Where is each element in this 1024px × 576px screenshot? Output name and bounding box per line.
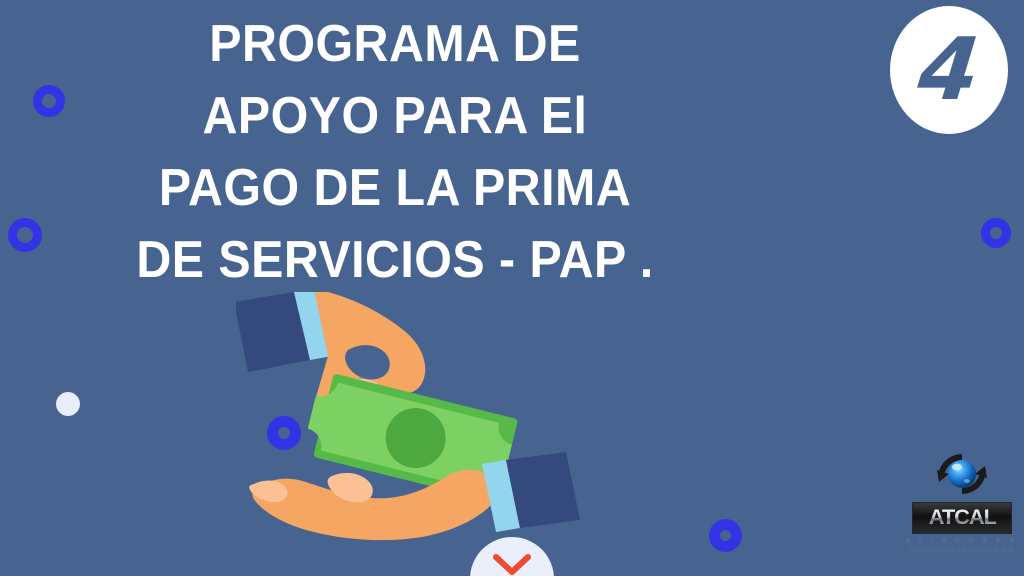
slide-canvas: PROGRAMA DE APOYO PARA El PAGO DE LA PRI… [0, 0, 1024, 576]
ring-bottom-right [709, 519, 742, 552]
atcal-wordmark-text: ATCAL [928, 506, 995, 530]
title-line-2: APOYO PARA El [28, 80, 763, 152]
lower-hand-palm [252, 470, 496, 540]
atcal-tagline-line2: TECNOLOGIA Y CALIDAD S.A.S. [909, 547, 1015, 554]
slide-number-badge: 4 [890, 6, 1008, 134]
atcal-tagline-line1: A L I A D O S E N [906, 538, 1018, 545]
title-line-1: PROGRAMA DE [28, 8, 763, 80]
title-line-3: PAGO DE LA PRIMA [28, 152, 763, 224]
atcal-cycle-sphere-icon [931, 448, 993, 500]
atcal-logo: ATCAL A L I A D O S E N TECNOLOGIA Y CAL… [906, 448, 1018, 572]
slide-number-value: 4 [915, 27, 984, 113]
title-line-4: DE SERVICIOS - PAP . [28, 224, 763, 296]
ring-mid-right [981, 218, 1011, 248]
hands-exchanging-money-illustration [236, 292, 596, 576]
page-title: PROGRAMA DE APOYO PARA El PAGO DE LA PRI… [0, 8, 790, 296]
atcal-wordmark: ATCAL [912, 502, 1012, 534]
dot-left-white [56, 392, 80, 416]
chevron-down-icon [490, 551, 534, 576]
